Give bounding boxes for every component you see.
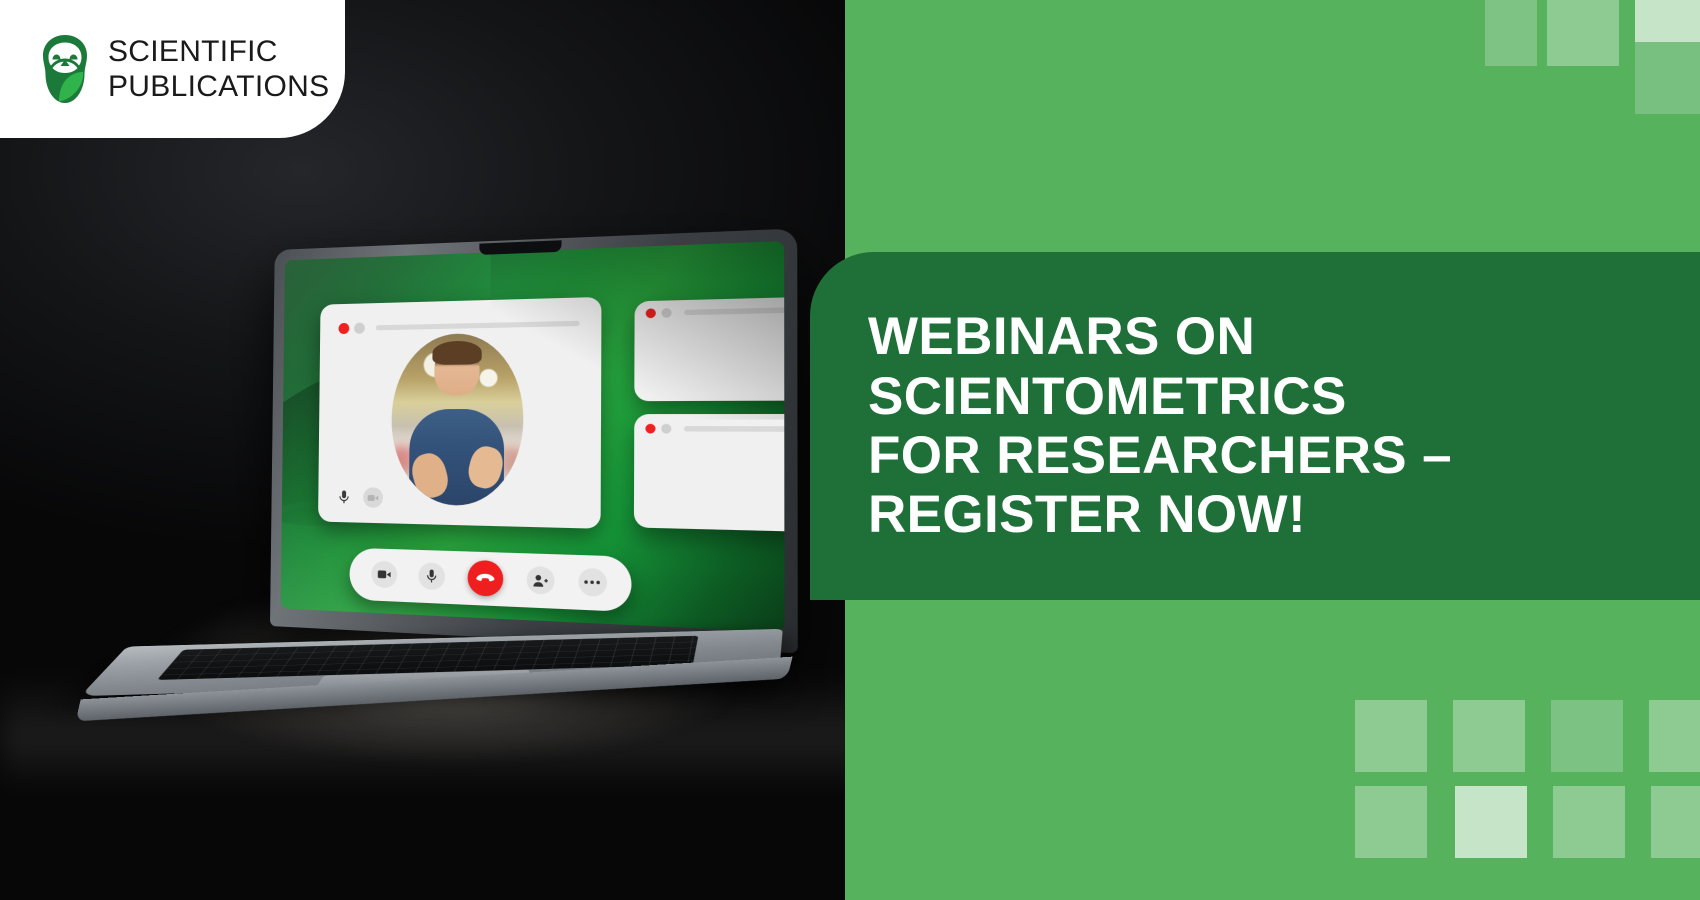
- decor-square: [1485, 0, 1537, 66]
- camera-button[interactable]: [371, 561, 397, 589]
- owl-icon: [36, 33, 94, 105]
- speaker-avatar: [391, 333, 525, 507]
- end-call-button[interactable]: [468, 560, 504, 597]
- laptop-lid: [270, 228, 798, 653]
- status-dot-icon: [661, 308, 671, 318]
- window-controls: [334, 487, 383, 508]
- decor-square: [1635, 42, 1700, 114]
- decor-square: [1455, 786, 1527, 858]
- decor-square: [1553, 786, 1625, 858]
- add-participant-button[interactable]: [527, 566, 555, 595]
- video-call-interface: [281, 241, 785, 632]
- mic-button[interactable]: [419, 563, 446, 591]
- record-dot-icon: [645, 309, 655, 319]
- main-video-window[interactable]: [318, 297, 601, 529]
- title-placeholder-line: [684, 307, 785, 315]
- headline-panel: WEBINARS ON SCIENTOMETRICS FOR RESEARCHE…: [810, 252, 1700, 600]
- participant-window-2[interactable]: [634, 414, 784, 532]
- participant-window-1[interactable]: [635, 297, 785, 402]
- page-title: WEBINARS ON SCIENTOMETRICS FOR RESEARCHE…: [810, 307, 1472, 544]
- brand-name: SCIENTIFIC PUBLICATIONS: [108, 37, 329, 102]
- window-title-bar: [338, 318, 580, 334]
- brand-name-line-1: SCIENTIFIC: [108, 37, 329, 67]
- brand-logo-badge[interactable]: SCIENTIFIC PUBLICATIONS: [0, 0, 345, 138]
- status-dot-icon: [354, 323, 365, 334]
- record-dot-icon: [338, 323, 349, 334]
- status-dot-icon: [661, 423, 671, 433]
- camera-off-icon[interactable]: [363, 487, 383, 508]
- avatar-hair: [432, 340, 482, 365]
- promo-banner: WEBINARS ON SCIENTOMETRICS FOR RESEARCHE…: [0, 0, 1700, 900]
- laptop-screen: [281, 241, 785, 632]
- brand-name-line-2: PUBLICATIONS: [108, 72, 329, 102]
- decor-square: [1651, 786, 1700, 858]
- record-dot-icon: [645, 423, 655, 433]
- headline-line-4: REGISTER NOW!: [868, 485, 1452, 544]
- decor-square: [1547, 0, 1619, 66]
- title-placeholder-line: [376, 321, 580, 331]
- headline-line-1: WEBINARS ON: [868, 307, 1452, 366]
- more-options-button[interactable]: [578, 568, 607, 597]
- decor-square: [1355, 786, 1427, 858]
- window-title-bar: [645, 423, 785, 433]
- microphone-icon[interactable]: [334, 487, 354, 508]
- window-title-bar: [645, 305, 784, 319]
- call-toolbar: [349, 548, 631, 612]
- laptop-device: [84, 246, 784, 686]
- headline-line-3: FOR RESEARCHERS –: [868, 426, 1452, 485]
- headline-line-2: SCIENTOMETRICS: [868, 367, 1452, 426]
- title-placeholder-line: [683, 426, 784, 432]
